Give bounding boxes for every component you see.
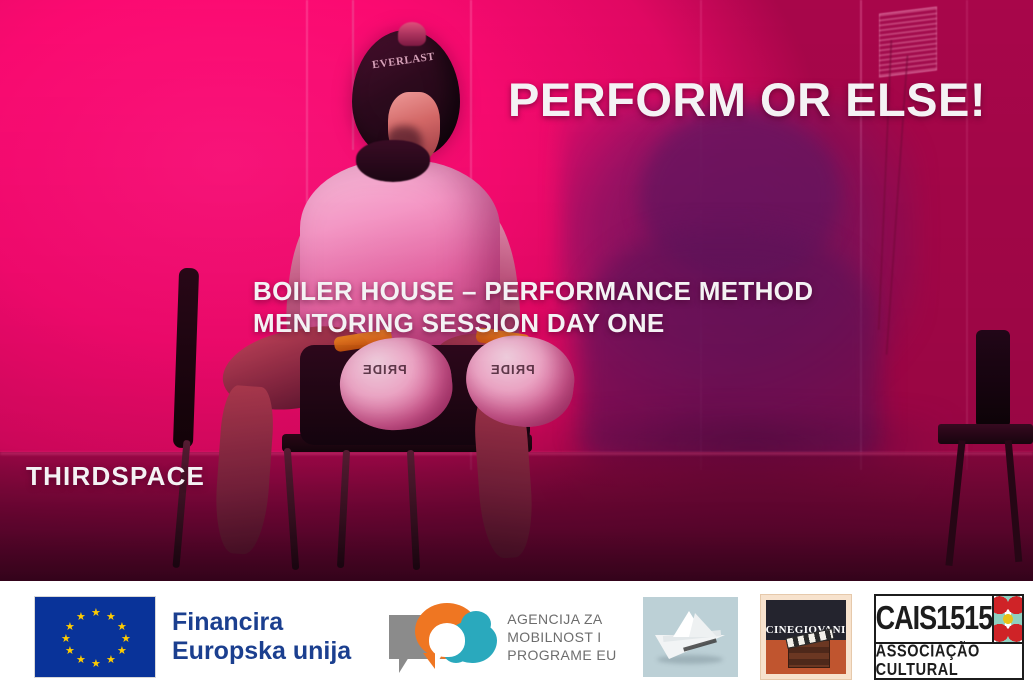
subtitle-text: BOILER HOUSE – PERFORMANCE METHODMENTORI… <box>253 275 813 339</box>
subtitle-line-1: BOILER HOUSE – PERFORMANCE METHOD <box>253 276 813 306</box>
ceiling-vent <box>879 6 937 77</box>
side-chair <box>976 330 1010 428</box>
logo-cais-1515: CAIS1515 ASSOCIAÇÃO CULTURAL <box>874 594 1024 680</box>
wall-seam <box>966 0 968 470</box>
logo-paper-boat <box>643 597 738 677</box>
poster: EVERLAST PRIDE PRIDE PERFORM OR ELSE! BO… <box>0 0 1033 693</box>
eu-text-line-1: Financira <box>172 608 283 636</box>
glove-brand-label: PRIDE <box>490 362 535 377</box>
headline-text: PERFORM OR ELSE! <box>508 72 986 127</box>
eu-flag-icon: ★ ★ ★ ★ ★ ★ ★ ★ ★ ★ ★ ★ <box>34 596 156 678</box>
sponsor-logo-bar: ★ ★ ★ ★ ★ ★ ★ ★ ★ ★ ★ ★ FinanciraEuropsk… <box>0 581 1033 693</box>
paper-boat-icon <box>643 597 738 677</box>
ampeu-text: AGENCIJA ZAMOBILNOST IPROGRAME EU <box>507 610 616 664</box>
logo-ampeu: AGENCIJA ZAMOBILNOST IPROGRAME EU <box>389 601 616 673</box>
eu-funding-text: FinanciraEuropska unija <box>172 608 351 666</box>
hero-photo: EVERLAST PRIDE PRIDE PERFORM OR ELSE! BO… <box>0 0 1033 581</box>
cais-title: CAIS1515 <box>876 591 993 647</box>
logo-cinegiovani: CINEGIOVANI <box>760 594 852 680</box>
organisation-name: THIRDSPACE <box>26 461 205 492</box>
ampeu-line-2: MOBILNOST I <box>507 629 601 645</box>
eu-text-line-2: Europska unija <box>172 637 351 665</box>
cais-badge: CAIS1515 ASSOCIAÇÃO CULTURAL <box>874 594 1024 680</box>
headguard-chin-strap <box>356 140 430 182</box>
glove-brand-label: PRIDE <box>362 362 407 377</box>
side-table <box>938 424 1033 444</box>
cais-subtitle: ASSOCIAÇÃO CULTURAL <box>876 641 1022 681</box>
headguard-top-knot <box>398 22 426 46</box>
azulejo-tile-icon <box>992 596 1021 642</box>
subtitle-line-2: MENTORING SESSION DAY ONE <box>253 308 665 338</box>
hanging-cable <box>352 0 354 150</box>
logo-eu-funding: ★ ★ ★ ★ ★ ★ ★ ★ ★ ★ ★ ★ FinanciraEuropsk… <box>34 596 351 678</box>
ampeu-line-1: AGENCIJA ZA <box>507 611 602 627</box>
ampeu-line-3: PROGRAME EU <box>507 647 616 663</box>
cinegiovani-badge: CINEGIOVANI <box>760 594 852 680</box>
speech-bubbles-icon <box>389 601 497 673</box>
